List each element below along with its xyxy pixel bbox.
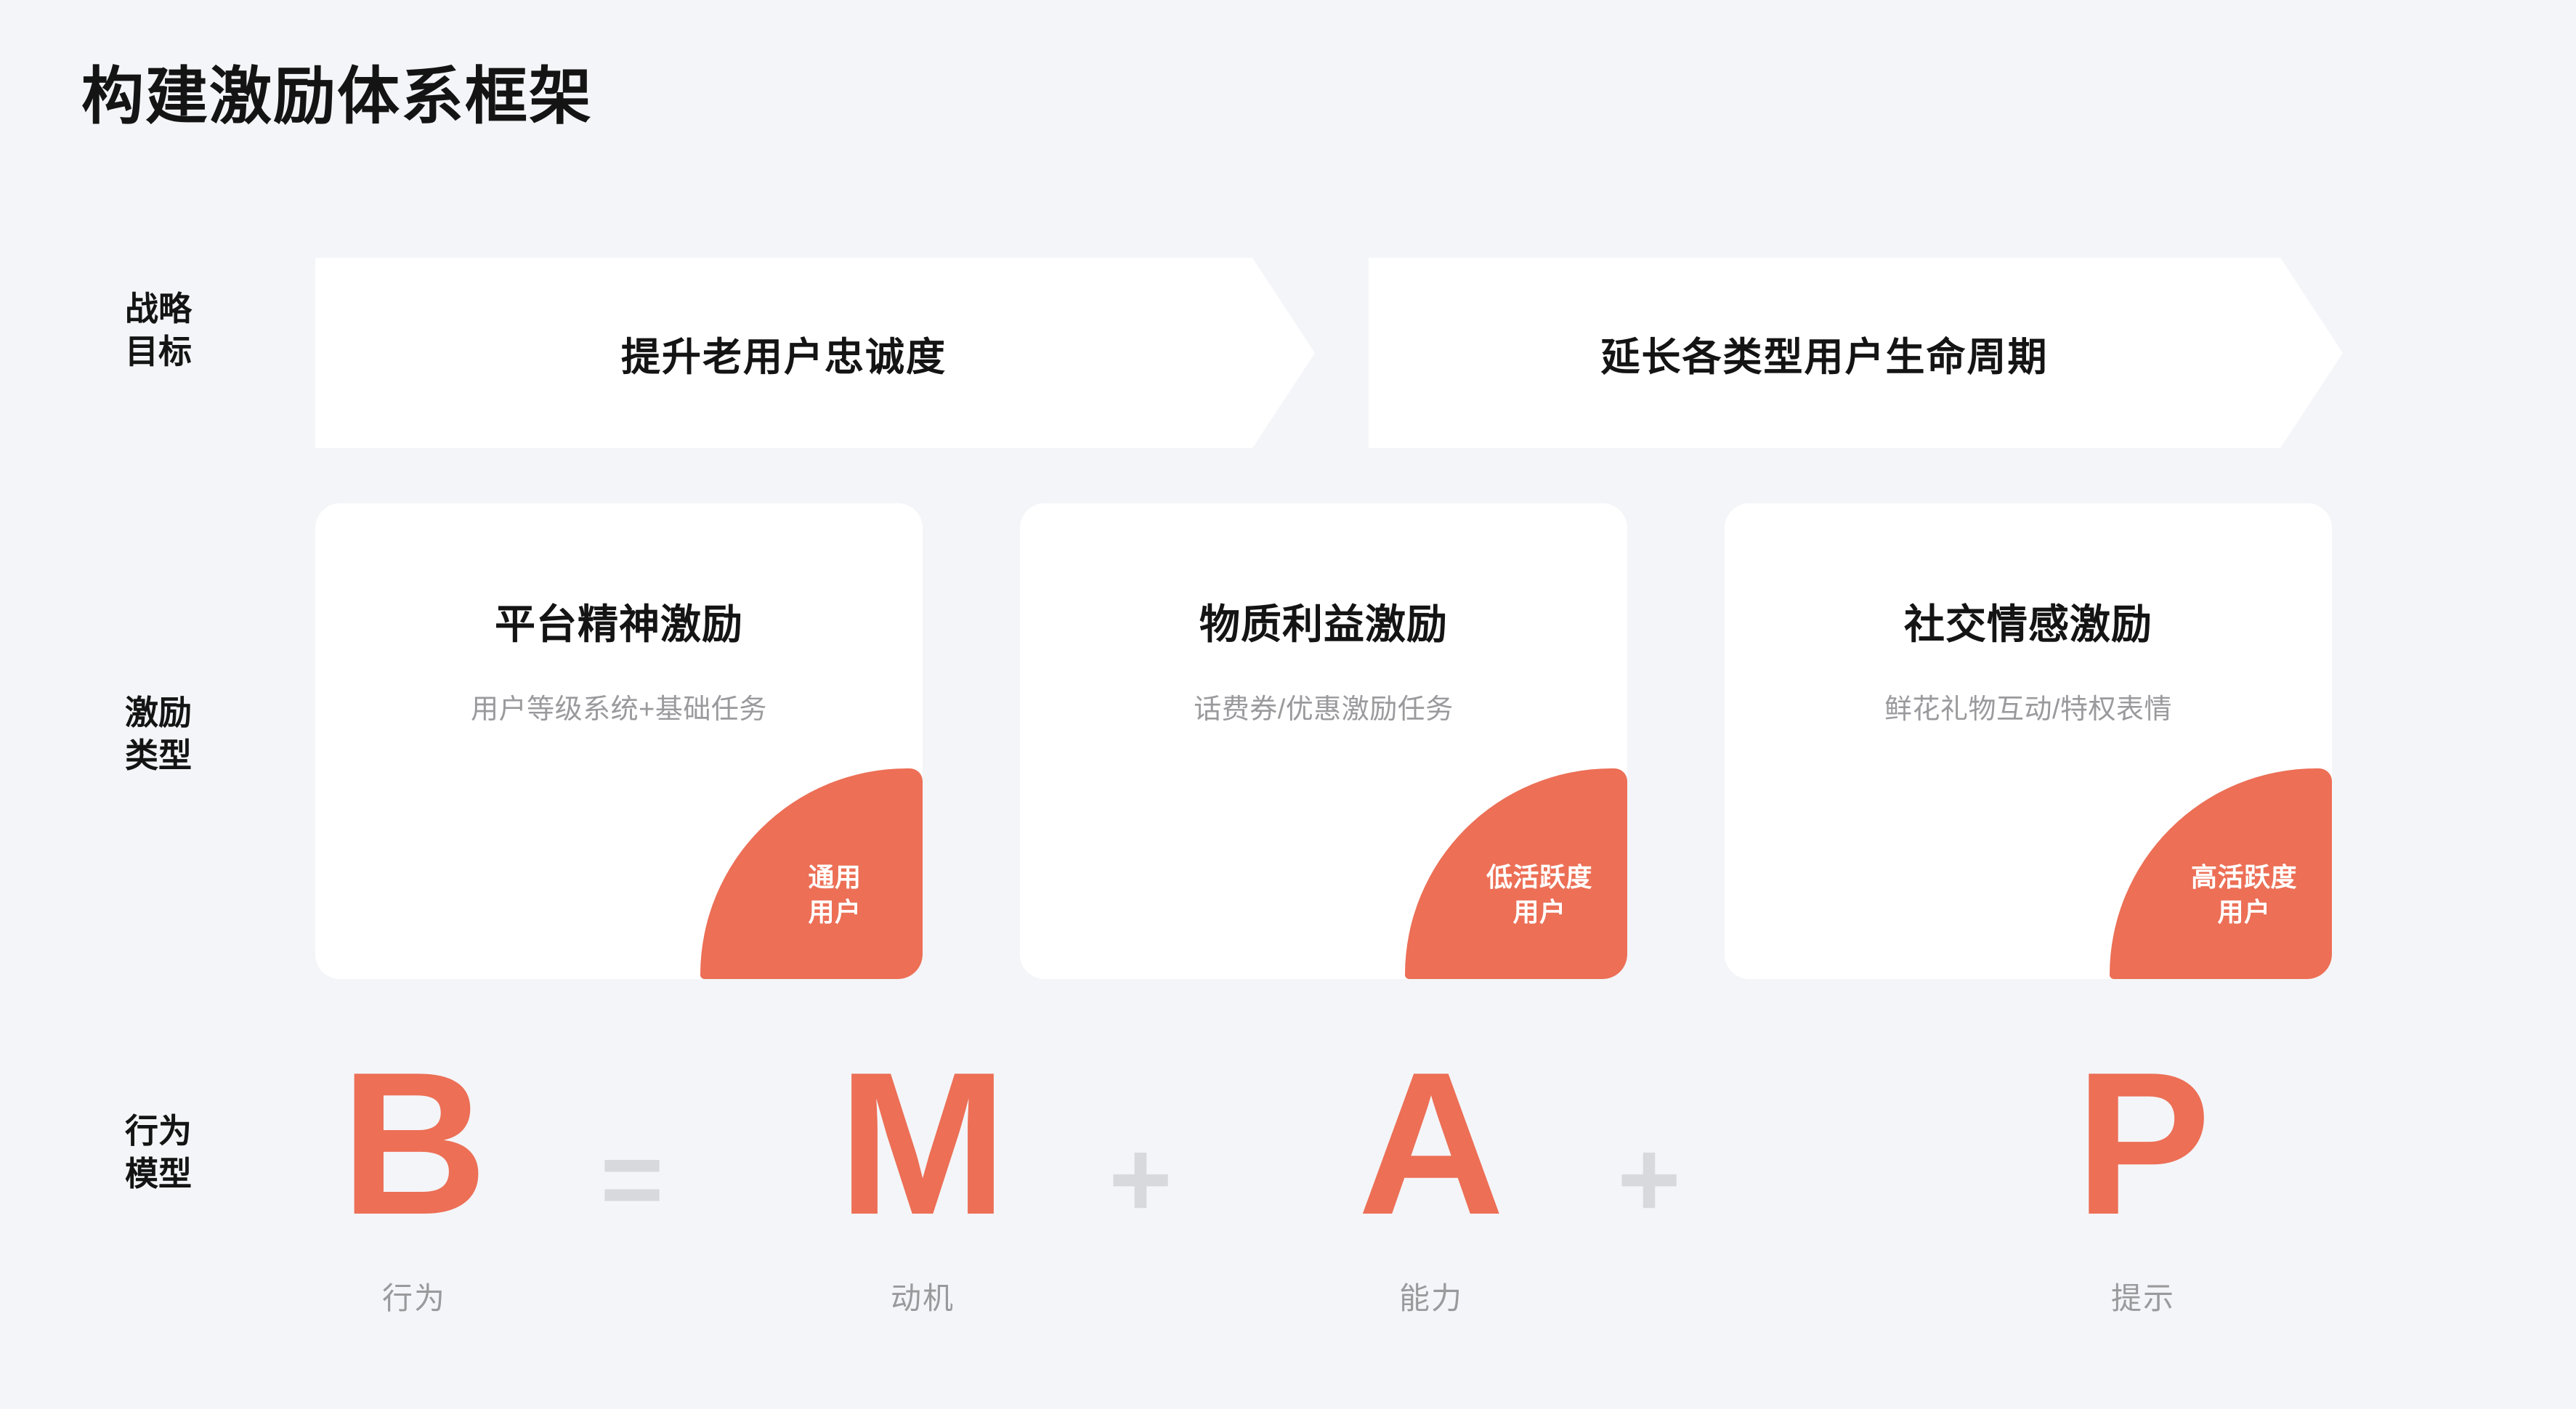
strategy-goal-banner-2[interactable]: 延长各类型用户生命周期 [1369,258,2343,448]
incentive-card-material-benefit[interactable]: 物质利益激励 话费券/优惠激励任务 低活跃度 用户 [1020,503,1627,979]
model-term-caption: 行为 [291,1274,538,1318]
model-term-prompt: P 提示 [2020,1039,2267,1318]
equals-operator: = [581,1117,683,1241]
incentive-card-audience-badge: 高活跃度 用户 [2110,768,2332,979]
model-term-motivation: M 动机 [799,1039,1046,1318]
incentive-card-subtitle: 话费券/优惠激励任务 [1020,686,1627,726]
incentive-card-title: 平台精神激励 [315,592,923,651]
incentive-cards-row: 平台精神激励 用户等级系统+基础任务 通用 用户 物质利益激励 话费券/优惠激励… [0,503,2576,979]
model-term-glyph: P [2020,1039,2267,1249]
page-title: 构建激励体系框架 [81,62,593,131]
model-term-caption: 能力 [1308,1274,1555,1318]
strategy-goal-banner-1[interactable]: 提升老用户忠诚度 [315,258,1315,448]
incentive-card-subtitle: 用户等级系统+基础任务 [315,686,923,726]
incentive-card-title: 物质利益激励 [1020,592,1627,651]
model-term-glyph: M [799,1039,1046,1249]
model-term-caption: 动机 [799,1274,1046,1318]
audience-badge-label: 通用 用户 [808,860,861,929]
model-term-caption: 提示 [2020,1274,2267,1318]
strategy-goal-row: 提升老用户忠诚度 延长各类型用户生命周期 [0,258,2576,448]
strategy-goal-label-1: 提升老用户忠诚度 [621,325,947,382]
model-term-glyph: A [1308,1039,1555,1249]
model-term-behavior: B 行为 [291,1039,538,1318]
audience-badge-label: 高活跃度 用户 [2191,860,2297,929]
audience-badge-label: 低活跃度 用户 [1486,860,1592,929]
model-term-ability: A 能力 [1308,1039,1555,1318]
incentive-card-platform-spirit[interactable]: 平台精神激励 用户等级系统+基础任务 通用 用户 [315,503,923,979]
plus-operator-2: + [1598,1117,1700,1241]
incentive-card-social-emotional[interactable]: 社交情感激励 鲜花礼物互动/特权表情 高活跃度 用户 [1725,503,2332,979]
incentive-card-audience-badge: 通用 用户 [700,768,923,979]
incentive-card-subtitle: 鲜花礼物互动/特权表情 [1725,686,2332,726]
incentive-card-audience-badge: 低活跃度 用户 [1405,768,1627,979]
behavior-model-formula: B 行为 = M 动机 + A 能力 + P 提示 [0,1039,2576,1380]
model-term-glyph: B [291,1039,538,1249]
plus-operator-1: + [1090,1117,1191,1241]
strategy-goal-label-2: 延长各类型用户生命周期 [1601,325,2049,382]
incentive-card-title: 社交情感激励 [1725,592,2332,651]
